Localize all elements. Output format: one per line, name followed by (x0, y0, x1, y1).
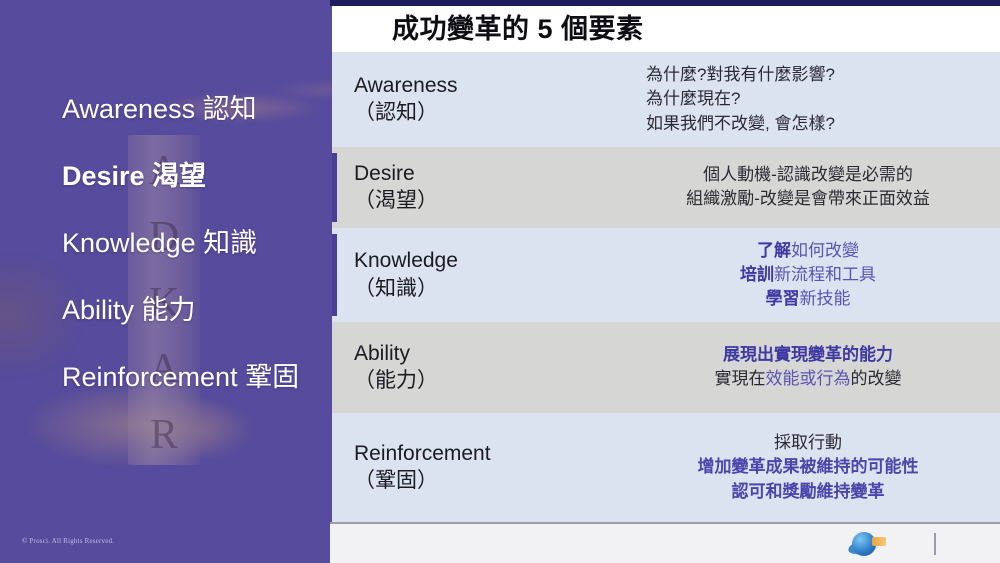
term-label-en: Desire (354, 160, 642, 188)
adkar-item-list: Awareness 認知 Desire 渴望 Knowledge 知識 Abil… (0, 92, 332, 427)
table-row: Awareness（認知）為什麼?對我有什麼影響?為什麼現在?如果我們不改變, … (330, 52, 1000, 147)
slide-root: A D K A R Awareness 認知 Desire 渴望 Knowled… (0, 0, 1000, 563)
term-label-zh: （渴望） (354, 187, 642, 215)
title-bar: 成功變革的 5 個要素 (330, 6, 1000, 52)
table-cell-description: 為什麼?對我有什麼影響?為什麼現在?如果我們不改變, 會怎樣? (642, 63, 1000, 135)
table-cell-term: Reinforcement（鞏固） (342, 440, 642, 495)
description-segment: 為什麼現在? (646, 89, 740, 108)
term-label-en: Reinforcement (354, 440, 642, 468)
description-line: 組織激勵-改變是會帶來正面效益 (642, 187, 974, 211)
term-label-zh: （鞏固） (354, 467, 642, 495)
logo-spark-icon (872, 537, 886, 546)
description-segment: 為什麼?對我有什麼影響? (646, 65, 835, 84)
adkar-item-ability: Ability 能力 (0, 293, 332, 328)
table-cell-description: 個人動機-認識改變是必需的組織激勵-改變是會帶來正面效益 (642, 163, 1000, 211)
bottom-bar (330, 522, 1000, 563)
table-cell-term: Knowledge（知識） (342, 247, 642, 302)
term-label-zh: （認知） (354, 99, 642, 127)
left-adkar-panel: A D K A R Awareness 認知 Desire 渴望 Knowled… (0, 0, 332, 563)
description-line: 為什麼?對我有什麼影響? (646, 63, 974, 87)
table-cell-description: 展現出實現變革的能力實現在效能或行為的改變 (642, 343, 1000, 391)
description-segment: 增加變革成果被維持的可能性 (698, 457, 919, 476)
adkar-item-awareness: Awareness 認知 (0, 92, 332, 127)
description-line: 為什麼現在? (646, 87, 974, 111)
description-line: 個人動機-認識改變是必需的 (642, 163, 974, 187)
adkar-item-desire: Desire 渴望 (0, 159, 332, 194)
description-segment: 了解 (757, 241, 791, 260)
term-label-en: Awareness (354, 72, 642, 100)
adkar-item-reinforcement: Reinforcement 鞏固 (0, 360, 332, 395)
table-cell-description: 了解如何改變培訓新流程和工具學習新技能 (642, 239, 1000, 311)
description-line: 展現出實現變革的能力 (642, 343, 974, 367)
adkar-item-knowledge: Knowledge 知識 (0, 226, 332, 261)
description-segment: 採取行動 (774, 433, 842, 452)
table-cell-description: 採取行動增加變革成果被維持的可能性認可和獎勵維持變革 (642, 431, 1000, 503)
description-segment: 如果我們不改變, 會怎樣? (646, 114, 835, 133)
top-accent-rule (330, 0, 1000, 6)
table-cell-term: Desire（渴望） (342, 160, 642, 215)
term-label-en: Knowledge (354, 247, 642, 275)
description-segment: 的改變 (851, 369, 902, 388)
description-line: 增加變革成果被維持的可能性 (642, 455, 974, 479)
description-segment: 新技能 (800, 289, 851, 308)
table-row: Desire（渴望）個人動機-認識改變是必需的組織激勵-改變是會帶來正面效益 (330, 147, 1000, 228)
description-segment: 效能或行為 (766, 369, 851, 388)
description-segment: 認可和獎勵維持變革 (732, 482, 885, 501)
description-segment: 實現在 (715, 369, 766, 388)
term-label-zh: （知識） (354, 275, 642, 303)
description-segment: 如何改變 (791, 241, 859, 260)
description-segment: 個人動機-認識改變是必需的 (703, 165, 913, 184)
adkar-table: Awareness（認知）為什麼?對我有什麼影響?為什麼現在?如果我們不改變, … (330, 52, 1000, 522)
copyright-footer: © Prosci. All Rights Reserved. (22, 537, 114, 545)
right-content-panel: 成功變革的 5 個要素 Awareness（認知）為什麼?對我有什麼影響?為什麼… (330, 0, 1000, 563)
bottom-divider (934, 533, 936, 555)
description-segment: 組織激勵-改變是會帶來正面效益 (686, 189, 930, 208)
description-line: 採取行動 (642, 431, 974, 455)
description-segment: 展現出實現變革的能力 (723, 345, 893, 364)
table-row: Ability（能力）展現出實現變革的能力實現在效能或行為的改變 (330, 322, 1000, 413)
page-title: 成功變革的 5 個要素 (392, 16, 644, 43)
brand-globe-logo (848, 531, 894, 557)
description-line: 學習新技能 (642, 287, 974, 311)
description-segment: 學習 (766, 289, 800, 308)
table-cell-term: Awareness（認知） (342, 72, 642, 127)
table-cell-term: Ability（能力） (342, 340, 642, 395)
term-label-zh: （能力） (354, 367, 642, 395)
description-line: 培訓新流程和工具 (642, 263, 974, 287)
description-line: 認可和獎勵維持變革 (642, 480, 974, 504)
table-row: Knowledge（知識）了解如何改變培訓新流程和工具學習新技能 (330, 228, 1000, 322)
description-line: 如果我們不改變, 會怎樣? (646, 112, 974, 136)
table-row: Reinforcement（鞏固）採取行動增加變革成果被維持的可能性認可和獎勵維… (330, 413, 1000, 522)
description-line: 了解如何改變 (642, 239, 974, 263)
description-segment: 培訓 (740, 265, 774, 284)
description-line: 實現在效能或行為的改變 (642, 367, 974, 391)
term-label-en: Ability (354, 340, 642, 368)
description-segment: 新流程和工具 (774, 265, 876, 284)
